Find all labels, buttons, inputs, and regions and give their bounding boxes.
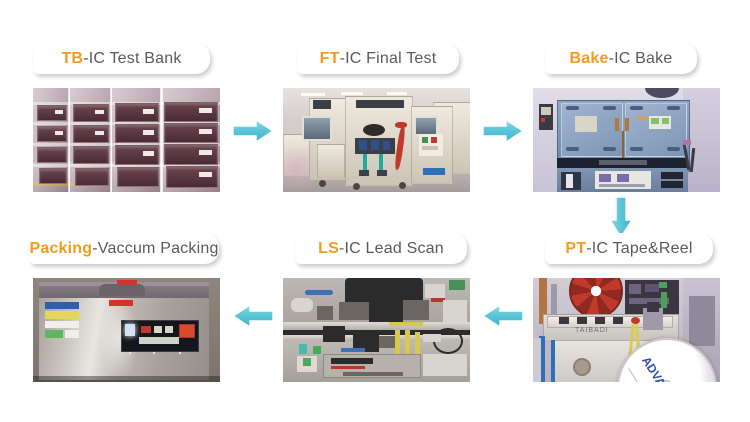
step-name-packing: -Vaccum Packing — [92, 240, 218, 258]
step-code-packing: Packing — [29, 240, 92, 258]
connector-tb-to-ft — [232, 118, 274, 144]
step-photo-ft — [283, 88, 470, 192]
step-name-ls: -IC Lead Scan — [339, 240, 444, 258]
step-label-bake[interactable]: Bake -IC Bake — [545, 43, 697, 74]
photo-scene-final-test — [283, 88, 470, 192]
step-code-bake: Bake — [570, 50, 609, 68]
connector-ls-to-packing — [232, 303, 274, 329]
step-photo-tb — [33, 88, 220, 192]
step-label-pt[interactable]: PT -IC Tape&Reel — [545, 233, 713, 264]
connector-pt-to-ls — [482, 303, 524, 329]
step-photo-pt: TAIBADI ADVANTEK — [533, 278, 720, 382]
machine-brand-text: TAIBADI — [575, 327, 609, 334]
photo-scene-bake-oven — [533, 88, 720, 192]
connector-ft-to-bake — [482, 118, 524, 144]
photo-scene-lead-scan — [283, 278, 470, 382]
step-label-ls[interactable]: LS -IC Lead Scan — [295, 233, 467, 264]
step-code-pt: PT — [565, 240, 586, 258]
step-code-tb: TB — [61, 50, 83, 68]
step-name-tb: -IC Test Bank — [83, 50, 181, 68]
arrow-left-icon — [232, 303, 274, 329]
arrow-down-icon — [608, 196, 634, 238]
photo-scene-vacuum-packer — [33, 278, 220, 382]
step-label-packing[interactable]: Packing -Vaccum Packing — [29, 233, 219, 264]
step-label-tb[interactable]: TB -IC Test Bank — [33, 43, 210, 74]
step-photo-bake — [533, 88, 720, 192]
step-name-pt: -IC Tape&Reel — [586, 240, 692, 258]
photo-scene-test-bank — [33, 88, 220, 192]
step-code-ls: LS — [318, 240, 339, 258]
step-name-ft: -IC Final Test — [340, 50, 437, 68]
step-code-ft: FT — [320, 50, 340, 68]
process-flow-diagram: TB -IC Test Bank — [0, 0, 750, 422]
arrow-right-icon — [232, 118, 274, 144]
step-label-ft[interactable]: FT -IC Final Test — [297, 43, 459, 74]
step-photo-packing — [33, 278, 220, 382]
connector-bake-to-pt — [608, 196, 634, 238]
step-photo-ls — [283, 278, 470, 382]
photo-scene-tape-and-reel: TAIBADI ADVANTEK — [533, 278, 720, 382]
step-name-bake: -IC Bake — [609, 50, 673, 68]
arrow-right-icon — [482, 118, 524, 144]
arrow-left-icon — [482, 303, 524, 329]
